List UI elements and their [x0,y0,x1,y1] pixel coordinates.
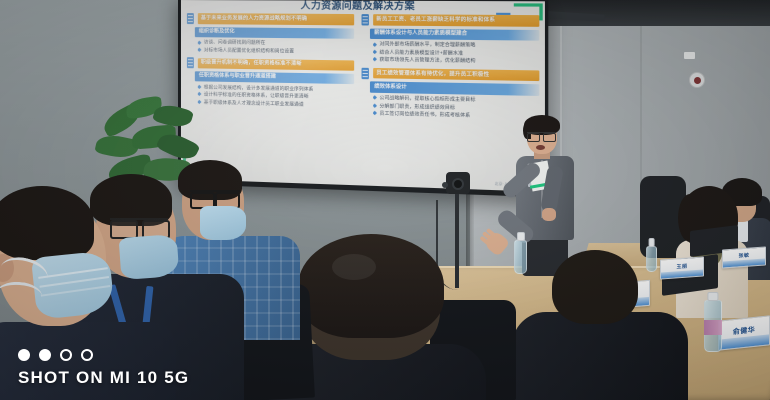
camera-knob [442,182,448,188]
slide-title: 人力资源问题及解决方案 [181,0,545,13]
slide-block: 新员工工资、老员工涨薪缺乏科学的标准和体系 薪酬体系设计与人员能力素质模型建合 … [360,14,539,66]
list-item: 对标市场人员配置优化组织结构和岗位设置 [198,46,354,55]
watermark-dot-empty [81,349,93,361]
attendee-head [552,250,638,324]
conference-room: 人力资源问题及解决方案 基于未来业务发展的人力资源战略规划不明确 [0,0,770,400]
bottle-cap [648,238,655,247]
presenter-right-hand [542,208,556,221]
watermark-text: SHOT ON MI 10 5G [18,368,189,388]
block-header: 基于未来业务发展的人力资源战略规划不明确 [186,13,354,25]
presenter [500,104,592,240]
list-item: 获取市场领先人员管理方法，优化薪酬结构 [373,56,539,66]
performance-icon [360,67,369,79]
bullet-list: 访谈、问卷调研找到问题所在 对标市场人员配置优化组织结构和岗位设置 [198,39,354,56]
career-ladder-icon [186,57,195,68]
bottle-cap [516,232,524,241]
watermark-dot-filled [18,349,30,361]
watermark-dot-filled [39,349,51,361]
block-header: 职级晋升机制不明确，任职资格标准不清晰 [186,57,354,71]
watermark-dot-empty [60,349,72,361]
slide-block: 基于未来业务发展的人力资源战略规划不明确 组织诊断及优化 访谈、问卷调研找到问题… [186,13,354,55]
problem-heading: 基于未来业务发展的人力资源战略规划不明确 [198,13,354,25]
camera-lens-icon [452,178,464,190]
name-card: 张敏 [722,246,766,268]
solution-subheading: 任职资格体系与职业晋升通道搭建 [195,71,354,84]
bullet-list: 对同外部市场薪酬水平，制定合理薪酬策略 结合人员能力素质模型设计+薪酬水准 获取… [373,40,539,65]
attendee-hair [0,186,94,260]
water-bottle [704,300,722,352]
problem-heading: 员工绩效管理体系有待优化，提升员工积极性 [373,68,539,82]
attendee-mid-right [520,250,670,400]
presenter-mouth [536,145,545,150]
attendee-body [512,312,688,400]
name-card-label: 王丽 [676,262,687,270]
accent-corner-top-v [539,3,542,20]
block-header: 员工绩效管理体系有待优化，提升员工积极性 [360,67,539,81]
solution-subheading: 薪酬体系设计与人员能力素质模型建合 [370,28,539,40]
bottle-cap [707,292,718,301]
motion-sensor-icon [689,72,705,88]
wall-plate [684,52,695,59]
glasses-icon [527,132,556,139]
name-card: 俞健华 [718,315,770,350]
salary-icon [360,14,369,25]
solution-subheading: 组织诊断及优化 [195,27,354,39]
screenshot-root: 人力资源问题及解决方案 基于未来业务发展的人力资源战略规划不明确 [0,0,770,400]
camera-watermark: SHOT ON MI 10 5G [18,349,189,388]
watermark-dots [18,349,189,361]
name-card-label: 俞健华 [733,325,756,337]
name-card-label: 张敏 [738,252,749,260]
slide-column-left: 基于未来业务发展的人力资源战略规划不明确 组织诊断及优化 访谈、问卷调研找到问题… [186,13,354,116]
problem-heading: 新员工工资、老员工涨薪缺乏科学的标准和体系 [373,14,539,26]
block-header: 新员工工资、老员工涨薪缺乏科学的标准和体系 [360,14,539,27]
bullet-list: 根据公司发展结构，设计多发展通道的职业序列体系 设计科学标准的任职资格体系，让职… [198,83,354,109]
slide-block: 职级晋升机制不明确，任职资格标准不清晰 任职资格体系与职业晋升通道搭建 根据公司… [186,57,354,108]
problem-heading: 职级晋升机制不明确，任职资格标准不清晰 [198,58,354,71]
hair-highlight [332,254,376,280]
clipboard-icon [186,13,195,24]
attendee-hair [298,234,444,338]
slide-columns: 基于未来业务发展的人力资源战略规划不明确 组织诊断及优化 访谈、问卷调研找到问题… [186,13,539,121]
bottle-label [704,320,722,336]
